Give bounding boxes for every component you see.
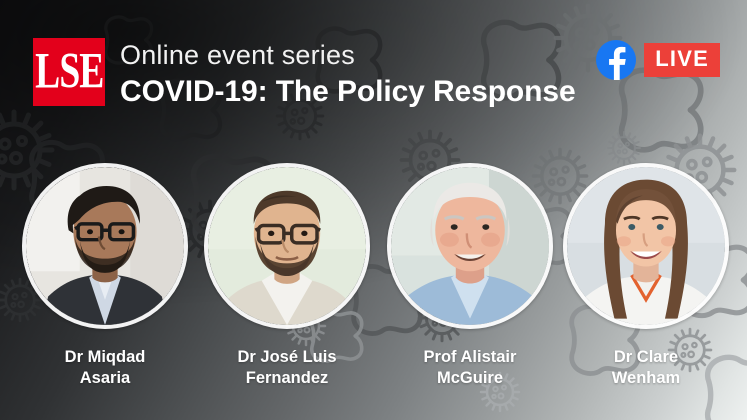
lse-logo: LSE <box>33 38 105 106</box>
portrait-alistair-mcguire <box>391 167 549 325</box>
speaker-card-3: Prof Alistair McGuire <box>384 163 556 389</box>
event-title: COVID-19: The Policy Response <box>120 74 576 110</box>
avatar <box>563 163 729 329</box>
speaker-name: Dr Miqdad Asaria <box>19 347 191 389</box>
portrait-jose-luis-fernandez <box>208 167 366 325</box>
speaker-card-2: Dr José Luis Fernandez <box>201 163 373 389</box>
avatar <box>387 163 553 329</box>
facebook-live-badge: LIVE <box>596 40 720 80</box>
title-block: Online event series COVID-19: The Policy… <box>120 40 576 110</box>
series-label: Online event series <box>120 40 576 72</box>
avatar <box>22 163 188 329</box>
banner-header: LSE Online event series COVID-19: The Po… <box>0 0 747 140</box>
portrait-miqdad-asaria <box>26 167 184 325</box>
event-promo-banner: LSE Online event series COVID-19: The Po… <box>0 0 747 420</box>
speakers-row: Dr Miqdad Asaria <box>0 163 747 403</box>
speaker-name: Dr Clare Wenham <box>560 347 732 389</box>
speaker-name: Prof Alistair McGuire <box>384 347 556 389</box>
lse-logo-text: LSE <box>35 45 103 99</box>
facebook-icon <box>596 40 636 80</box>
speaker-card-4: Dr Clare Wenham <box>560 163 732 389</box>
live-label: LIVE <box>644 43 720 77</box>
portrait-clare-wenham <box>567 167 725 325</box>
speaker-name: Dr José Luis Fernandez <box>201 347 373 389</box>
speaker-card-1: Dr Miqdad Asaria <box>19 163 191 389</box>
avatar <box>204 163 370 329</box>
